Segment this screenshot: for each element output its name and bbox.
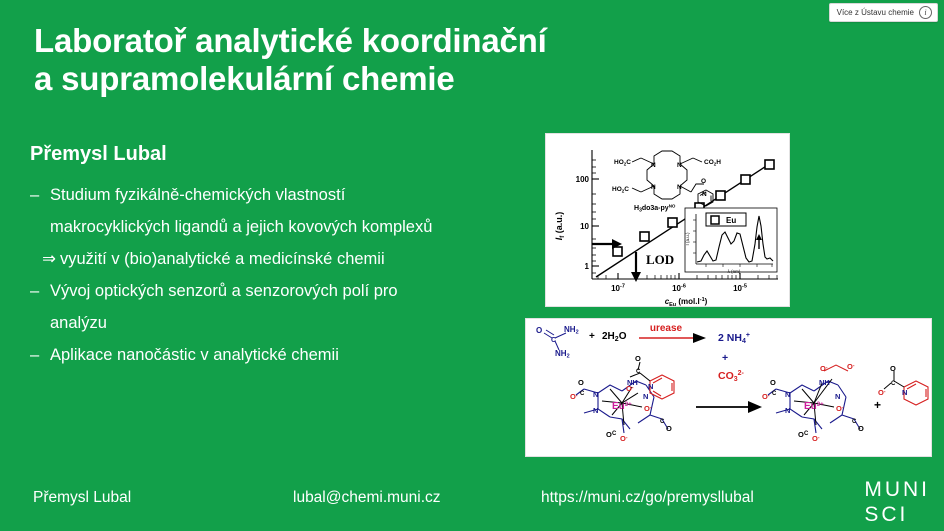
atom-n: N [902, 388, 907, 397]
bullet-marker: – [30, 276, 50, 306]
atom-n: N [785, 390, 790, 399]
urea-atom-o: O [536, 326, 542, 335]
atom-o: O [578, 378, 584, 387]
list-item: – Aplikace nanočástic v analytické chemi… [30, 340, 530, 370]
title-line-1: Laboratoř analytické koordinační [34, 22, 694, 60]
atom-n: N [643, 392, 648, 401]
logo-sci-text: SCI [864, 504, 930, 525]
product-ammonium: 2 NH4+ [718, 332, 750, 345]
ligand-atom-n: N [677, 184, 682, 191]
y-tick-10: 10 [580, 222, 589, 231]
source-badge-label: Více z Ústavu chemie [837, 9, 914, 17]
plus-sign: + [874, 398, 881, 412]
atom-c: C [612, 431, 617, 437]
list-item: makrocyklických ligandů a jejich kovovýc… [30, 212, 530, 242]
atom-c: C [636, 369, 641, 375]
list-item: ⇒ využití v (bio)analytické a medicínské… [30, 244, 530, 274]
y-tick-100: 100 [576, 175, 590, 184]
muni-sci-logo: MUNI SCI [864, 479, 930, 525]
y-tick-1: 1 [585, 262, 590, 271]
atom-o: O [666, 424, 672, 433]
atom-n: N [785, 406, 790, 415]
footer: Přemysl Lubal lubal@chemi.muni.cz https:… [0, 473, 944, 531]
lod-label: LOD [646, 252, 674, 267]
ligand-group-ho2c-bottom: HO2C [612, 186, 629, 194]
legend: Eu [706, 213, 746, 226]
footer-url[interactable]: https://muni.cz/go/premysllubal [541, 489, 754, 507]
info-icon[interactable]: i [919, 6, 932, 19]
ligand-atom-n: N [651, 162, 656, 169]
atom-c: C [660, 419, 665, 425]
source-badge[interactable]: Více z Ústavu chemie i [829, 3, 938, 22]
list-item: analýzu [30, 308, 530, 338]
plus-sign: + [589, 331, 595, 342]
ligand-group-ho2c-top: HO2C [614, 159, 631, 167]
atom-c: C [804, 431, 809, 437]
person-name: Přemysl Lubal [30, 143, 530, 166]
figure-reaction-scheme[interactable]: O C NH2 NH2 + 2H2O urease 2 NH4+ + CO32- [525, 318, 932, 457]
ligand-atom-n-oxide: N [702, 191, 707, 198]
bullet-text: Vývoj optických senzorů a senzorových po… [50, 276, 530, 306]
ligand-atom-n: N [677, 162, 682, 169]
plus-sign: + [722, 352, 728, 364]
slide-canvas: Více z Ústavu chemie i Laboratoř analyti… [0, 0, 944, 531]
content-column: Přemysl Lubal – Studium fyzikálně-chemic… [30, 143, 530, 372]
atom-c: C [891, 381, 896, 387]
inset-emission-spectrum: λ (nm) I (a.u.) Eu [685, 208, 777, 274]
atom-nh: NH [819, 378, 830, 387]
urea-atom-c: C [551, 337, 556, 344]
atom-n: N [593, 406, 598, 415]
list-item: – Studium fyzikálně-chemických vlastnost… [30, 180, 530, 210]
ligand-atom-o: O [701, 178, 706, 185]
atom-o: O [858, 424, 864, 433]
atom-o: O [890, 364, 896, 373]
atom-nh: NH [627, 378, 638, 387]
legend-label-eu: Eu [726, 216, 736, 225]
atom-c: C [580, 391, 585, 397]
figure-calibration-plot[interactable]: 100 10 1 If (a.u.) [545, 133, 790, 307]
atom-c: C [772, 391, 777, 397]
reactant-water: 2H2O [602, 331, 627, 343]
bullet-text: Aplikace nanočástic v analytické chemii [50, 340, 530, 370]
bullet-text: makrocyklických ligandů a jejich kovovýc… [50, 212, 530, 242]
atom-o: O [770, 378, 776, 387]
ligand-atom-n: N [651, 184, 656, 191]
atom-n: N [648, 382, 653, 391]
atom-o: O [635, 354, 641, 363]
implies-icon: ⇒ [30, 244, 60, 274]
atom-n: N [835, 392, 840, 401]
bullet-marker: – [30, 340, 50, 370]
list-item: – Vývoj optických senzorů a senzorových … [30, 276, 530, 306]
atom-n: N [593, 390, 598, 399]
footer-author: Přemysl Lubal [33, 489, 131, 507]
title-line-2: a supramolekulární chemie [34, 60, 694, 98]
page-title: Laboratoř analytické koordinační a supra… [34, 22, 694, 98]
bullet-text: analýzu [50, 308, 530, 338]
atom-c: C [852, 419, 857, 425]
inset-x-label: λ (nm) [728, 269, 741, 274]
enzyme-label: urease [650, 323, 683, 334]
bullet-text: Studium fyzikálně-chemických vlastností [50, 180, 530, 210]
bullet-text: využití v (bio)analytické a medicínské c… [60, 244, 530, 274]
ligand-group-co2h: CO2H [704, 159, 721, 167]
footer-email[interactable]: lubal@chemi.muni.cz [293, 489, 441, 507]
logo-muni-text: MUNI [864, 479, 930, 500]
bullet-marker: – [30, 180, 50, 210]
inset-y-label: I (a.u.) [685, 232, 690, 246]
